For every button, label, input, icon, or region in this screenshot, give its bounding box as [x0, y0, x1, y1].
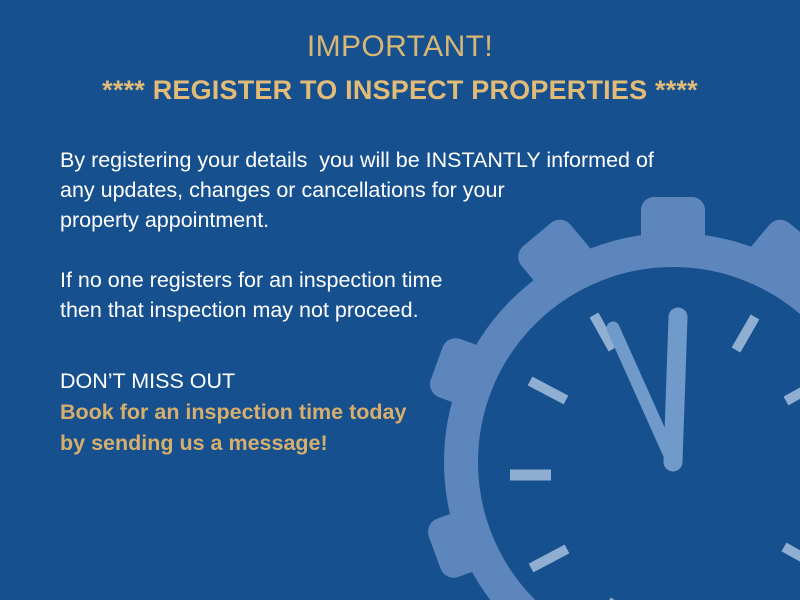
heading-important: IMPORTANT! — [0, 28, 800, 66]
heading-register-to-inspect: **** REGISTER TO INSPECT PROPERTIES **** — [0, 70, 800, 110]
paragraph-no-registration-warning: If no one registers for an inspection ti… — [60, 265, 710, 325]
heading-block: IMPORTANT! **** REGISTER TO INSPECT PROP… — [0, 28, 800, 110]
paragraph-registering-benefits: By registering your details you will be … — [60, 145, 710, 235]
closing-block: DON’T MISS OUT Book for an inspection ti… — [60, 366, 580, 459]
closing-cta-send-message: by sending us a message! — [60, 428, 580, 459]
body-block: By registering your details you will be … — [60, 145, 710, 325]
closing-dont-miss-out: DON’T MISS OUT — [60, 366, 580, 397]
closing-cta-book-inspection: Book for an inspection time today — [60, 397, 580, 428]
slide-content: IMPORTANT! **** REGISTER TO INSPECT PROP… — [0, 0, 800, 600]
slide-canvas: IMPORTANT! **** REGISTER TO INSPECT PROP… — [0, 0, 800, 600]
